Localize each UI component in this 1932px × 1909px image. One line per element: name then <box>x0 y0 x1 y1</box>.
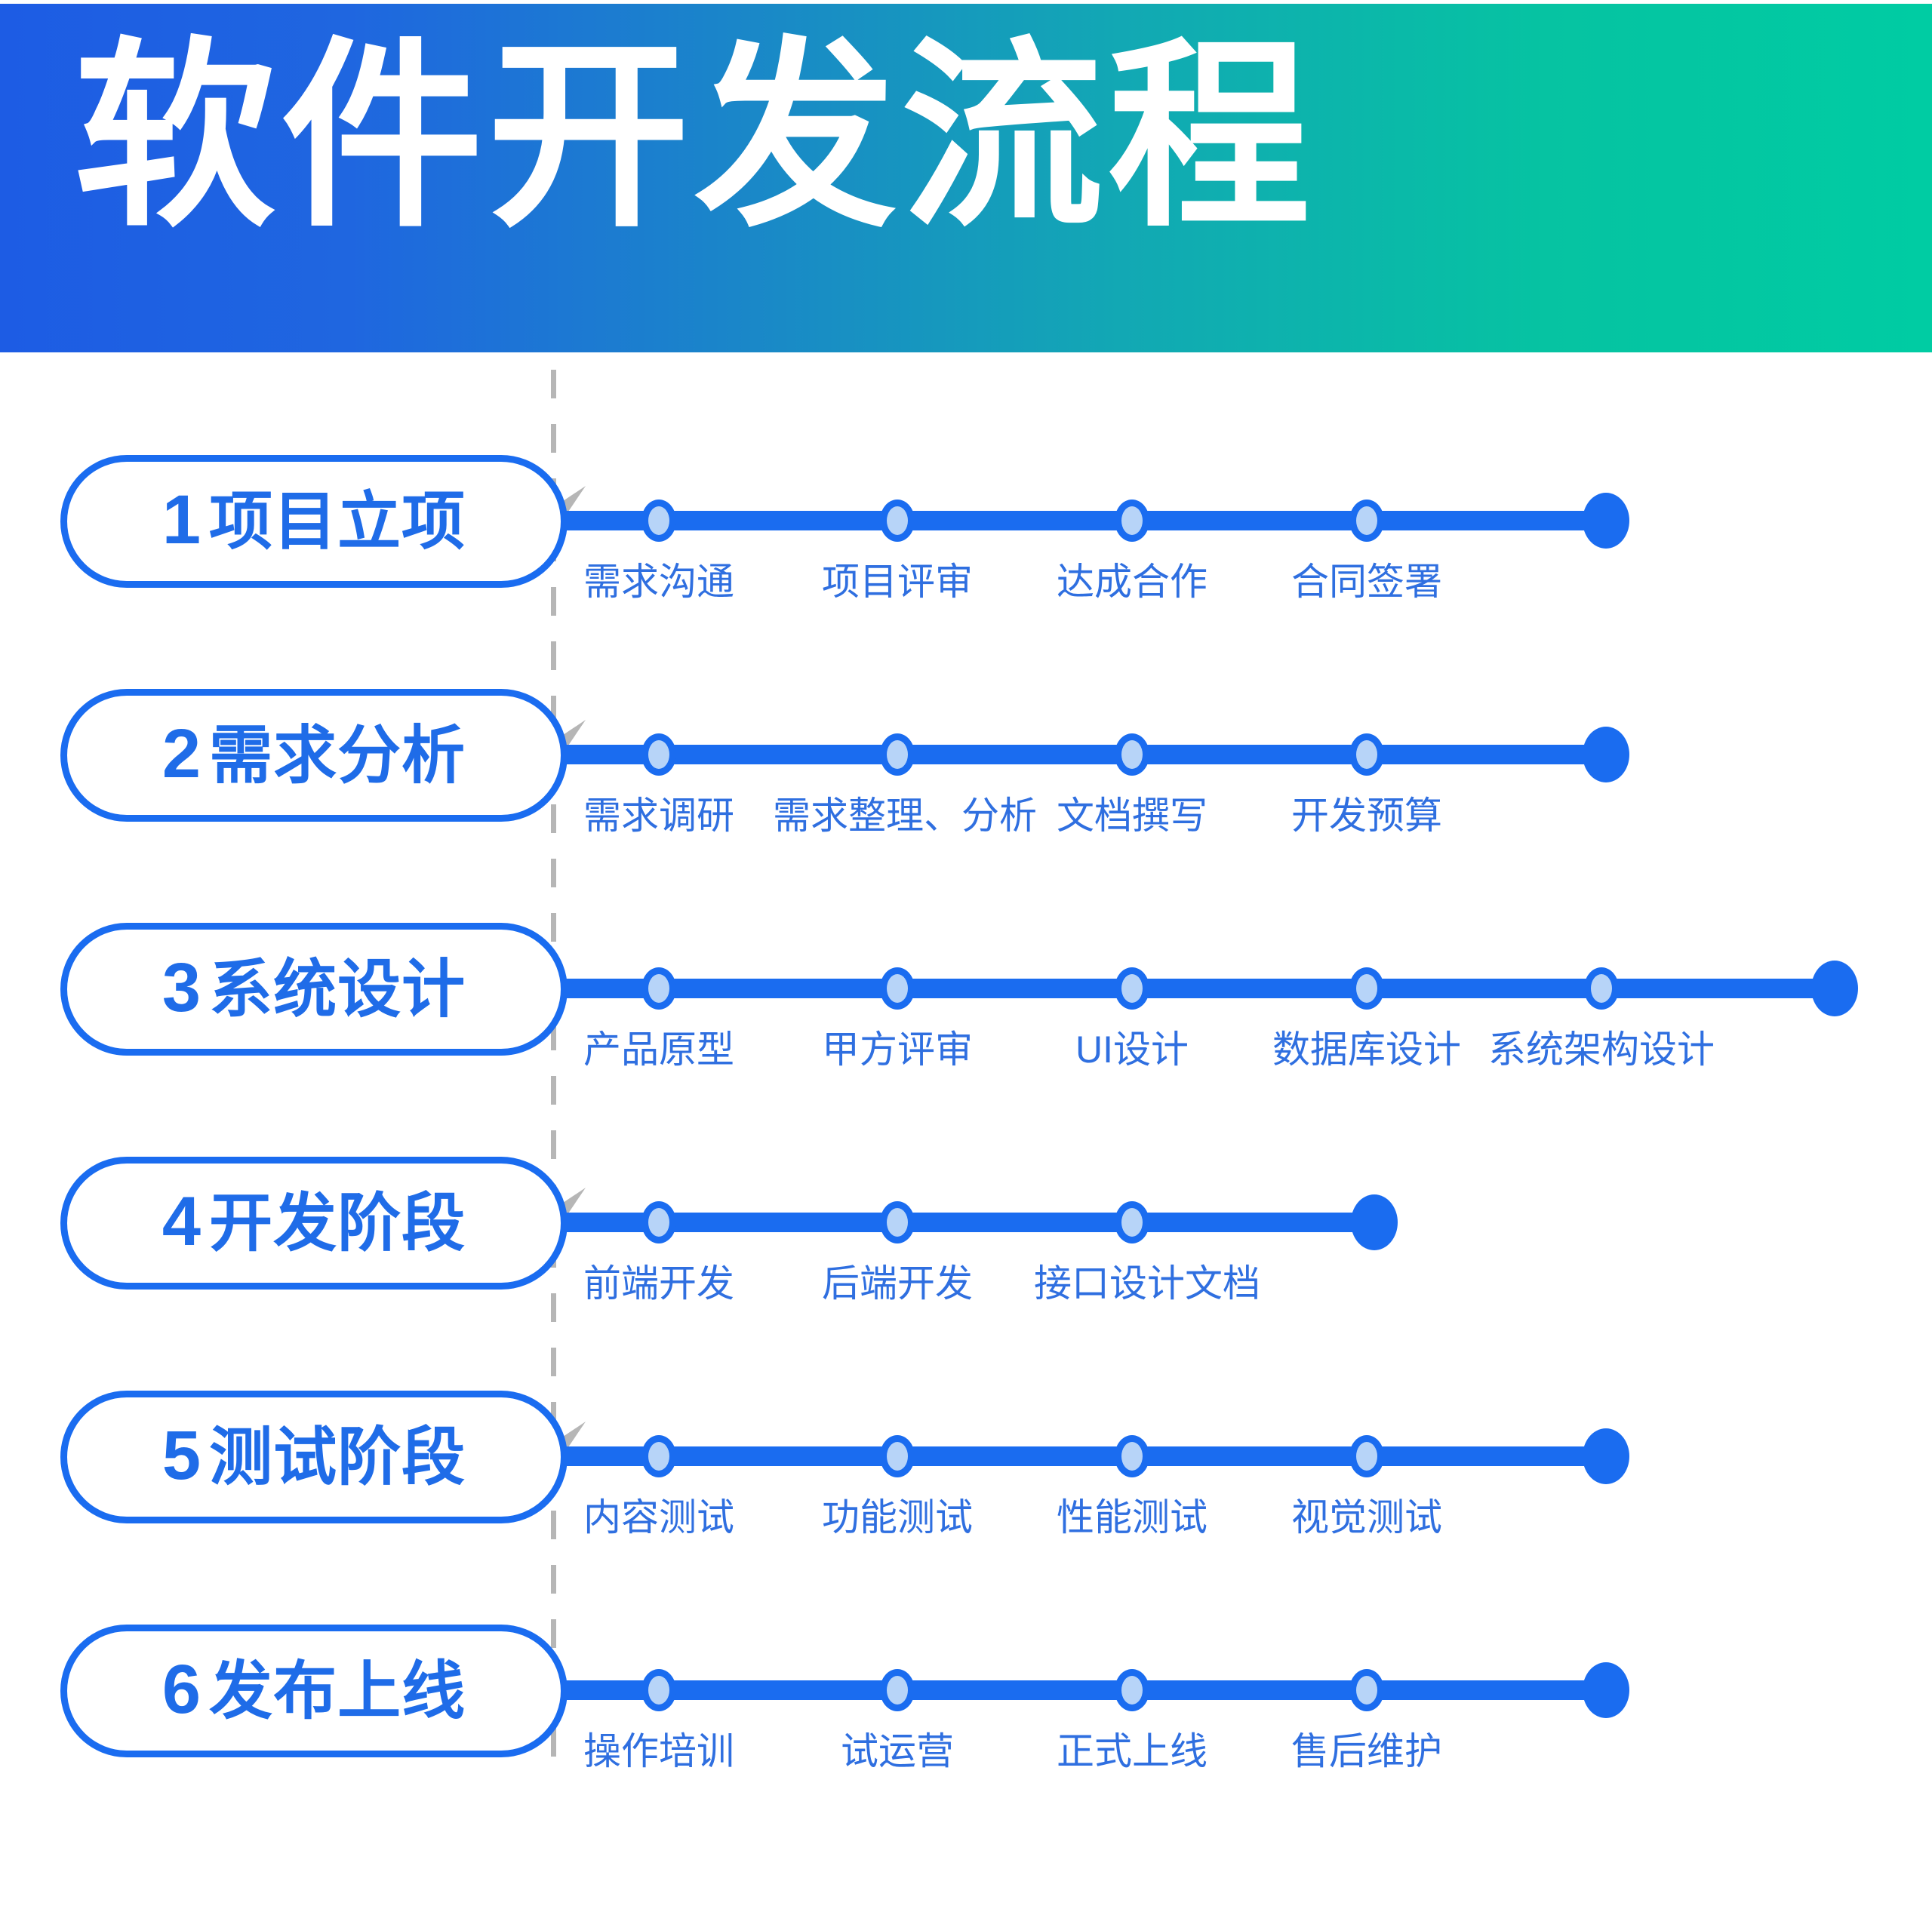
track-end-dot <box>1583 1662 1629 1718</box>
stage-name-3: 系统设计 <box>209 954 466 1025</box>
stage-pill-4[interactable]: 4开发阶段 <box>60 1157 568 1290</box>
milestone-label: UI设计 <box>1075 1019 1189 1074</box>
stage-track-5 <box>562 1446 1623 1466</box>
milestone-dot[interactable] <box>641 1201 676 1243</box>
track-end-dot <box>1351 1194 1398 1250</box>
milestone-dot[interactable] <box>641 967 676 1010</box>
stage-pill-6[interactable]: 6发布上线 <box>60 1625 568 1757</box>
stage-number-5: 5 <box>162 1417 202 1494</box>
stage-row-2: 2需求分析 需求调研 需求整理、分析 文档撰写 开发预算 <box>0 689 1932 915</box>
milestone-dot[interactable] <box>880 1669 915 1711</box>
stage-pill-label-4: 4开发阶段 <box>162 1187 466 1256</box>
milestone-dot[interactable] <box>880 1435 915 1477</box>
track-end-dot <box>1583 727 1629 782</box>
milestone-label: 性能测试 <box>1057 1487 1207 1542</box>
stage-name-2: 需求分析 <box>209 720 466 791</box>
milestone-dot[interactable] <box>1115 733 1149 776</box>
milestone-label: 接口设计文档 <box>1034 1253 1260 1308</box>
stage-pill-label-6: 6发布上线 <box>162 1655 466 1724</box>
milestone-label: 开发预算 <box>1291 785 1442 840</box>
stage-track-3 <box>562 979 1845 998</box>
milestone-label: 系统架构设计 <box>1488 1019 1715 1074</box>
milestone-label: 后端开发 <box>822 1253 973 1308</box>
track-end-dot <box>1811 961 1858 1016</box>
stage-pill-2[interactable]: 2需求分析 <box>60 689 568 822</box>
milestone-label: 产品原型 <box>583 1019 734 1074</box>
stage-pill-1[interactable]: 1项目立项 <box>60 455 568 588</box>
milestone-dot[interactable] <box>880 1201 915 1243</box>
milestone-dot[interactable] <box>1115 500 1149 542</box>
stage-pill-label-1: 1项目立项 <box>162 485 466 555</box>
milestone-label: 内容测试 <box>583 1487 734 1542</box>
stage-row-1: 1项目立项 需求沟通 项目评审 达成合作 合同签署 <box>0 455 1932 681</box>
stage-track-4 <box>562 1213 1385 1232</box>
stage-track-1 <box>562 511 1623 530</box>
stage-pill-5[interactable]: 5测试阶段 <box>60 1391 568 1523</box>
milestone-dot[interactable] <box>1349 500 1384 542</box>
milestone-label: 售后维护 <box>1291 1721 1442 1775</box>
stage-number-4: 4 <box>162 1183 202 1260</box>
stage-name-6: 发布上线 <box>209 1655 466 1726</box>
milestone-dot[interactable] <box>1349 1435 1384 1477</box>
milestone-label: 文档撰写 <box>1057 785 1207 840</box>
milestone-dot[interactable] <box>1349 1669 1384 1711</box>
milestone-label: 功能测试 <box>822 1487 973 1542</box>
stage-number-3: 3 <box>162 949 202 1026</box>
stage-track-6 <box>562 1680 1623 1700</box>
milestone-dot[interactable] <box>880 500 915 542</box>
track-end-dot <box>1583 493 1629 549</box>
milestone-label: 正式上线 <box>1057 1721 1207 1775</box>
milestone-label: 前端开发 <box>583 1253 734 1308</box>
stage-row-5: 5测试阶段 内容测试 功能测试 性能测试 视觉测试 <box>0 1391 1932 1617</box>
milestone-dot[interactable] <box>1115 967 1149 1010</box>
stage-number-1: 1 <box>162 481 202 558</box>
milestone-label: 数据库设计 <box>1272 1019 1461 1074</box>
process-flow: 1项目立项 需求沟通 项目评审 达成合作 合同签署 2需求分析 需求调研 需求整… <box>0 352 1932 1909</box>
stage-name-1: 项目立项 <box>209 486 466 557</box>
milestone-label: 达成合作 <box>1057 552 1207 606</box>
milestone-label: 操作培训 <box>583 1721 734 1775</box>
track-end-dot <box>1583 1428 1629 1484</box>
milestone-dot[interactable] <box>641 733 676 776</box>
stage-pill-label-5: 5测试阶段 <box>162 1421 466 1490</box>
milestone-label: 需求沟通 <box>583 552 734 606</box>
stage-name-4: 开发阶段 <box>209 1188 466 1259</box>
milestone-dot[interactable] <box>1349 967 1384 1010</box>
stage-pill-label-3: 3系统设计 <box>162 953 466 1022</box>
milestone-dot[interactable] <box>641 1435 676 1477</box>
milestone-dot[interactable] <box>1349 733 1384 776</box>
milestone-label: 需求整理、分析 <box>773 785 1037 840</box>
stage-row-4: 4开发阶段 前端开发 后端开发 接口设计文档 <box>0 1157 1932 1383</box>
milestone-dot[interactable] <box>1115 1201 1149 1243</box>
vertical-dashed-connector <box>551 370 556 1769</box>
milestone-dot[interactable] <box>641 1669 676 1711</box>
stage-name-5: 测试阶段 <box>209 1422 466 1492</box>
stage-number-2: 2 <box>162 715 202 792</box>
milestone-label: 项目评审 <box>822 552 973 606</box>
milestone-dot[interactable] <box>880 733 915 776</box>
milestone-dot[interactable] <box>641 500 676 542</box>
milestone-label: 合同签署 <box>1291 552 1442 606</box>
milestone-dot[interactable] <box>1115 1669 1149 1711</box>
stage-row-6: 6发布上线 操作培训 试运营 正式上线 售后维护 <box>0 1625 1932 1851</box>
milestone-label: 需求调研 <box>583 785 734 840</box>
milestone-dot[interactable] <box>880 967 915 1010</box>
milestone-label: 试运营 <box>841 1721 954 1775</box>
stage-pill-3[interactable]: 3系统设计 <box>60 923 568 1056</box>
page-title: 软件开发流程 <box>74 35 1315 238</box>
header-banner: 软件开发流程 <box>0 4 1932 352</box>
stage-track-2 <box>562 745 1623 764</box>
milestone-label: 甲方评审 <box>822 1019 973 1074</box>
milestone-dot[interactable] <box>1584 967 1619 1010</box>
milestone-dot[interactable] <box>1115 1435 1149 1477</box>
milestone-label: 视觉测试 <box>1291 1487 1442 1542</box>
stage-number-6: 6 <box>162 1651 202 1728</box>
stage-row-3: 3系统设计 产品原型 甲方评审 UI设计 数据库设计 系统架构设计 <box>0 923 1932 1149</box>
stage-pill-label-2: 2需求分析 <box>162 719 466 788</box>
